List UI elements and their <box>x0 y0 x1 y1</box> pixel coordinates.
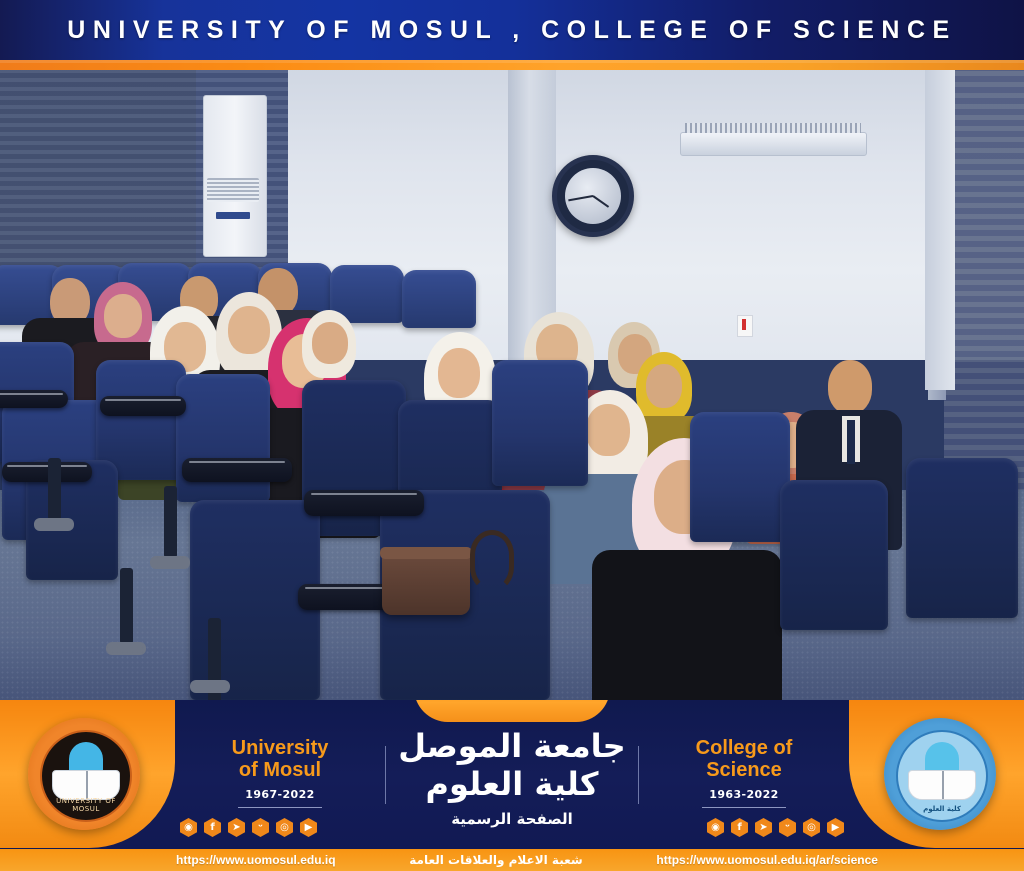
event-photograph: الضيوف الضيوف <box>0 60 1024 700</box>
college-title-line1: College of <box>654 738 834 760</box>
footer-divider-right <box>638 746 639 804</box>
handbag-icon <box>382 553 470 615</box>
twitter-icon[interactable]: ᵕ <box>779 818 796 837</box>
university-website-url[interactable]: https://www.uomosul.edu.iq <box>176 853 336 867</box>
air-conditioner-grill-icon <box>207 178 259 202</box>
title-rule <box>238 807 322 808</box>
seat-foot <box>34 518 74 531</box>
seat <box>690 412 790 542</box>
footer-arabic-line2: كلية العلوم <box>347 766 677 804</box>
page-title: UNIVERSITY OF MOSUL , COLLEGE OF SCIENCE <box>0 0 1024 60</box>
social-links-left[interactable]: ◉ f ➤ ᵕ ◎ ▶ <box>180 818 317 837</box>
seat-armrest <box>0 390 68 408</box>
facebook-icon[interactable]: f <box>731 818 748 837</box>
university-title-line2: of Mosul <box>190 760 370 782</box>
seat-leg <box>120 568 133 644</box>
seat-armrest <box>304 490 424 516</box>
footer-tab-shape <box>414 700 610 722</box>
seat-leg <box>164 486 177 558</box>
instagram-icon[interactable]: ◎ <box>276 818 293 837</box>
university-of-mosul-logo[interactable]: UNIVERSITY OF MOSUL <box>28 718 140 830</box>
clock-hour-hand-icon <box>592 195 609 208</box>
telegram-icon[interactable]: ➤ <box>755 818 772 837</box>
crest-inner: UNIVERSITY OF MOSUL <box>40 730 132 822</box>
seat-foot <box>106 642 146 655</box>
wall-air-conditioner-icon <box>680 132 867 156</box>
facebook-icon[interactable]: f <box>204 818 221 837</box>
college-title-block: College of Science 1963-2022 <box>654 738 834 808</box>
wall-clock-icon <box>552 155 634 237</box>
poster-root: UNIVERSITY OF MOSUL , COLLEGE OF SCIENCE <box>0 0 1024 871</box>
university-title-block: University of Mosul 1967-2022 <box>190 738 370 808</box>
seat-armrest <box>182 458 292 482</box>
university-years: 1967-2022 <box>190 788 370 801</box>
crest-open-book-icon <box>908 770 976 800</box>
seat-foot <box>150 556 190 569</box>
website-icon[interactable]: ◉ <box>180 818 197 837</box>
youtube-icon[interactable]: ▶ <box>300 818 317 837</box>
college-of-science-logo[interactable]: كلية العلوم <box>884 718 996 830</box>
twitter-icon[interactable]: ᵕ <box>252 818 269 837</box>
footer-arabic-subtitle: الصفحة الرسمية <box>347 810 677 828</box>
clock-minute-hand-icon <box>568 195 593 201</box>
footer-arabic-line1: جامعة الموصل <box>347 728 677 766</box>
youtube-icon[interactable]: ▶ <box>827 818 844 837</box>
social-links-right[interactable]: ◉ f ➤ ᵕ ◎ ▶ <box>707 818 844 837</box>
air-conditioner-label <box>216 212 250 219</box>
crest-name-text: UNIVERSITY OF MOSUL <box>42 797 130 813</box>
floor-air-conditioner-icon <box>203 95 267 257</box>
footer-bar: UNIVERSITY OF MOSUL كلية العلوم Universi… <box>0 700 1024 871</box>
website-icon[interactable]: ◉ <box>707 818 724 837</box>
seat <box>176 374 270 502</box>
title-rule <box>702 807 786 808</box>
seat-armrest <box>2 462 92 482</box>
handbag-strap-icon <box>470 530 514 592</box>
footer-url-strip: https://www.uomosul.edu.iq شعبة الاعلام … <box>0 849 1024 871</box>
college-title-line2: Science <box>654 760 834 782</box>
university-title-line1: University <box>190 738 370 760</box>
seat <box>492 360 588 486</box>
hall-pillar-right <box>925 60 955 390</box>
crest-inner: كلية العلوم <box>896 730 988 822</box>
wall-notice-icon <box>737 315 753 337</box>
instagram-icon[interactable]: ◎ <box>803 818 820 837</box>
college-years: 1963-2022 <box>654 788 834 801</box>
crest-name-text: كلية العلوم <box>898 805 986 813</box>
seat <box>906 458 1018 618</box>
seat <box>780 480 888 630</box>
seat-armrest <box>100 396 186 416</box>
wall-panel-left <box>0 60 200 290</box>
footer-center-block: جامعة الموصل كلية العلوم الصفحة الرسمية <box>347 728 677 828</box>
telegram-icon[interactable]: ➤ <box>228 818 245 837</box>
crest-open-book-icon <box>52 770 120 800</box>
seat-leg <box>48 458 61 520</box>
seat <box>402 270 476 328</box>
header-accent-rule <box>0 60 1024 70</box>
media-department-label: شعبة الاعلام والعلاقات العامة <box>409 853 582 867</box>
header-bar: UNIVERSITY OF MOSUL , COLLEGE OF SCIENCE <box>0 0 1024 60</box>
college-website-url[interactable]: https://www.uomosul.edu.iq/ar/science <box>656 853 878 867</box>
seat-foot <box>190 680 230 693</box>
